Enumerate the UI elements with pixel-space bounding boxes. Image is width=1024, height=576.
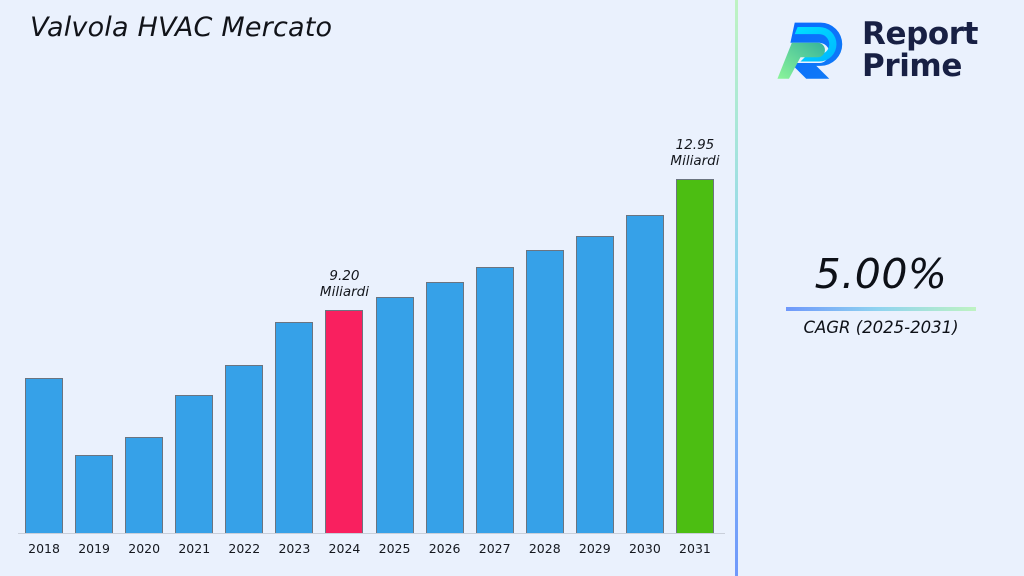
brand-line-1: Report: [862, 18, 978, 50]
brand-panel: Report Prime 5.00% CAGR (2025-2031): [738, 0, 1024, 576]
cagr-caption: CAGR (2025-2031): [738, 318, 1024, 337]
bar-2028: [526, 250, 564, 533]
bar-2031: [676, 179, 714, 533]
x-tick-2025: 2025: [369, 541, 421, 556]
bar-2029: [576, 236, 614, 533]
x-tick-2021: 2021: [168, 541, 220, 556]
value-label-unit: Miliardi: [645, 153, 745, 169]
bar-2020: [125, 437, 163, 533]
x-tick-2030: 2030: [619, 541, 671, 556]
bar-2024: [325, 310, 363, 533]
chart-panel: Valvola HVAC Mercato 2018201920202021202…: [0, 0, 735, 576]
value-label-number: 12.95: [645, 137, 745, 153]
x-tick-2024: 2024: [318, 541, 370, 556]
x-tick-2026: 2026: [419, 541, 471, 556]
bar-2022: [225, 365, 263, 533]
bar-2027: [476, 267, 514, 533]
cagr-value: 5.00%: [738, 250, 1024, 298]
x-tick-2023: 2023: [268, 541, 320, 556]
cagr-block: 5.00% CAGR (2025-2031): [738, 250, 1024, 337]
value-label-number: 9.20: [294, 268, 394, 284]
brand-wordmark: Report Prime: [862, 18, 978, 82]
x-tick-2027: 2027: [469, 541, 521, 556]
x-tick-2019: 2019: [68, 541, 120, 556]
x-tick-2029: 2029: [569, 541, 621, 556]
bar-2021: [175, 395, 213, 533]
bar-2019: [75, 455, 113, 533]
value-label-2024: 9.20Miliardi: [294, 268, 394, 301]
bar-2023: [275, 322, 313, 533]
x-tick-2028: 2028: [519, 541, 571, 556]
chart-screenshot: Valvola HVAC Mercato 2018201920202021202…: [0, 0, 1024, 576]
bar-2030: [626, 215, 664, 533]
report-prime-logo-icon: [776, 14, 848, 86]
bar-2026: [426, 282, 464, 533]
brand-logo: Report Prime: [776, 14, 978, 86]
bar-2018: [25, 378, 63, 533]
x-tick-2020: 2020: [118, 541, 170, 556]
bar-2025: [376, 297, 414, 533]
x-tick-2031: 2031: [669, 541, 721, 556]
x-tick-2022: 2022: [218, 541, 270, 556]
value-label-2031: 12.95Miliardi: [645, 137, 745, 170]
bar-chart-plot-area: 20182019202020212022202320249.20Miliardi…: [0, 0, 735, 576]
cagr-divider-rule: [786, 307, 976, 311]
x-axis-line: [18, 533, 725, 534]
x-tick-2018: 2018: [18, 541, 70, 556]
brand-line-2: Prime: [862, 50, 978, 82]
